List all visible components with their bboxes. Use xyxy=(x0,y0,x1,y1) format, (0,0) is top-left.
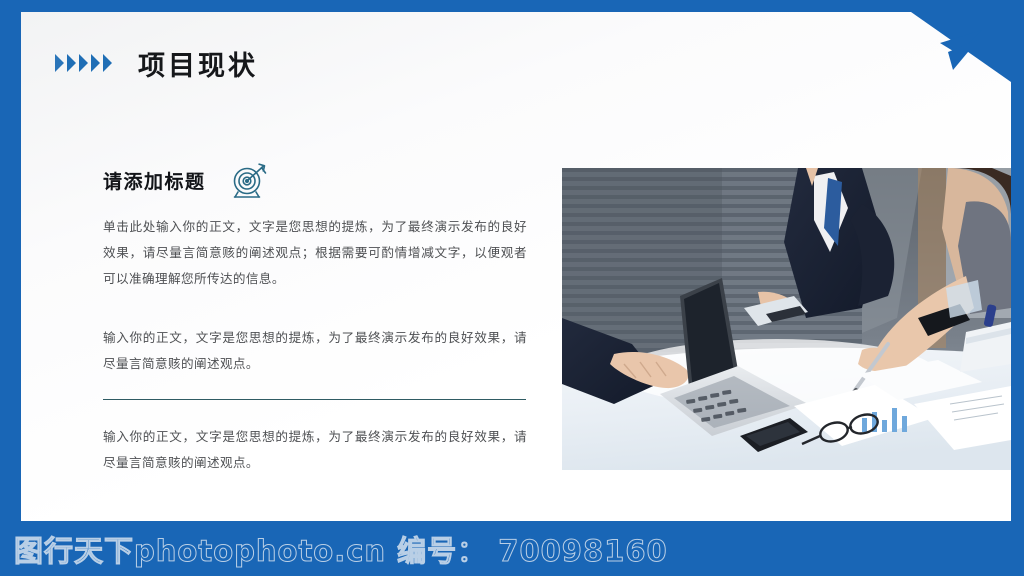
watermark-text: 图行天下photophoto.cn 编号： 70098160 xyxy=(14,528,668,570)
paragraph-spacer xyxy=(103,291,527,325)
watermark-bar: 图行天下photophoto.cn 编号： 70098160 xyxy=(0,521,1024,576)
target-dartboard-icon xyxy=(230,161,270,199)
content-column: 请添加标题 单击此处输入你的正文，文字是您思想的提炼，为了最终演示发布的良好效果… xyxy=(103,160,527,476)
body-paragraph-1: 单击此处输入你的正文，文字是您思想的提炼，为了最终演示发布的良好效果，请尽量言简… xyxy=(103,214,527,291)
section-heading: 请添加标题 xyxy=(103,160,527,200)
section-title: 请添加标题 xyxy=(103,167,206,194)
chevron-right-icon xyxy=(55,54,64,72)
body-paragraph-2: 输入你的正文，文字是您思想的提炼，为了最终演示发布的良好效果，请尽量言简意赅的阐… xyxy=(103,325,527,377)
slide-root: 项目现状 请添加标题 单击此处输入你的正文，文字是您 xyxy=(0,0,1024,576)
business-meeting-photo xyxy=(562,168,1011,470)
chevron-right-icon xyxy=(67,54,76,72)
chevron-right-icon xyxy=(91,54,100,72)
chevron-group xyxy=(55,54,112,72)
body-paragraph-3: 输入你的正文，文字是您思想的提炼，为了最终演示发布的良好效果，请尽量言简意赅的阐… xyxy=(103,424,527,476)
slide-header: 项目现状 xyxy=(55,40,258,86)
chevron-right-icon xyxy=(79,54,88,72)
page-title: 项目现状 xyxy=(138,44,258,83)
section-divider xyxy=(103,399,526,400)
chevron-right-icon xyxy=(103,54,112,72)
